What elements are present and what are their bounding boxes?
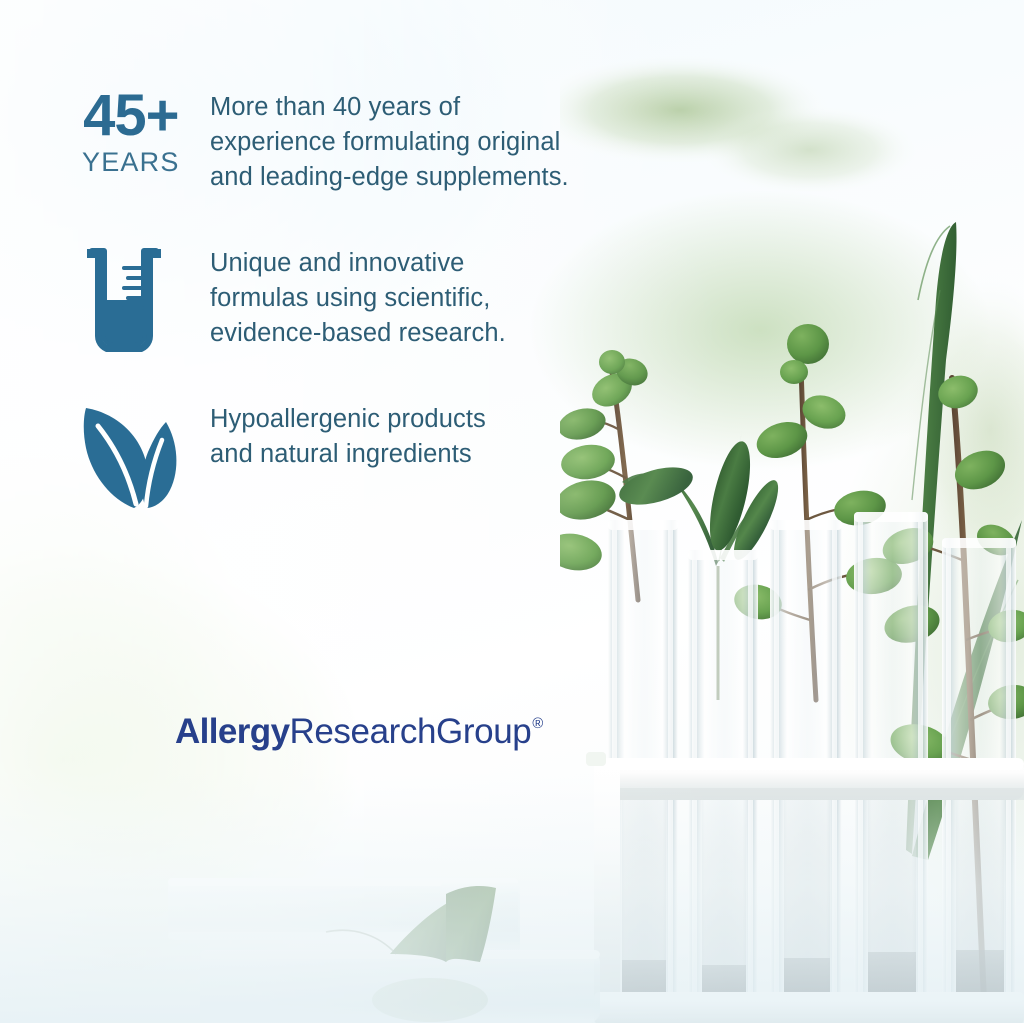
feature-item-hypoallergenic: Hypoallergenic products and natural ingr… xyxy=(78,400,638,510)
icon-column xyxy=(78,244,210,352)
text-column: Unique and innovative formulas using sci… xyxy=(210,244,506,352)
feature-item-formulas: Unique and innovative formulas using sci… xyxy=(78,244,638,352)
leaves-icon xyxy=(78,400,184,510)
feature-item-years: 45+ YEARS More than 40 years of experien… xyxy=(78,88,638,196)
feature-list: 45+ YEARS More than 40 years of experien… xyxy=(78,88,638,510)
feature-text: Hypoallergenic products and natural ingr… xyxy=(210,402,486,472)
text-column: More than 40 years of experience formula… xyxy=(210,88,569,196)
promotional-poster: 45+ YEARS More than 40 years of experien… xyxy=(0,0,1024,1023)
floor-wash xyxy=(0,773,1024,1023)
stat-unit: YEARS xyxy=(82,147,180,178)
text-column: Hypoallergenic products and natural ingr… xyxy=(210,400,486,472)
stat-number: 45+ xyxy=(82,88,180,143)
registered-trademark-icon: ® xyxy=(532,716,543,732)
brand-name-bold: Allergy xyxy=(175,712,289,751)
feature-text: More than 40 years of experience formula… xyxy=(210,90,569,196)
feature-text: Unique and innovative formulas using sci… xyxy=(210,246,506,352)
years-stat-badge: 45+ YEARS xyxy=(78,88,180,178)
beaker-icon xyxy=(78,244,170,352)
icon-column: 45+ YEARS xyxy=(78,88,210,178)
brand-name-regular: ResearchGroup xyxy=(289,712,531,751)
brand-logo: AllergyResearchGroup® xyxy=(175,714,542,749)
icon-column xyxy=(78,400,210,510)
